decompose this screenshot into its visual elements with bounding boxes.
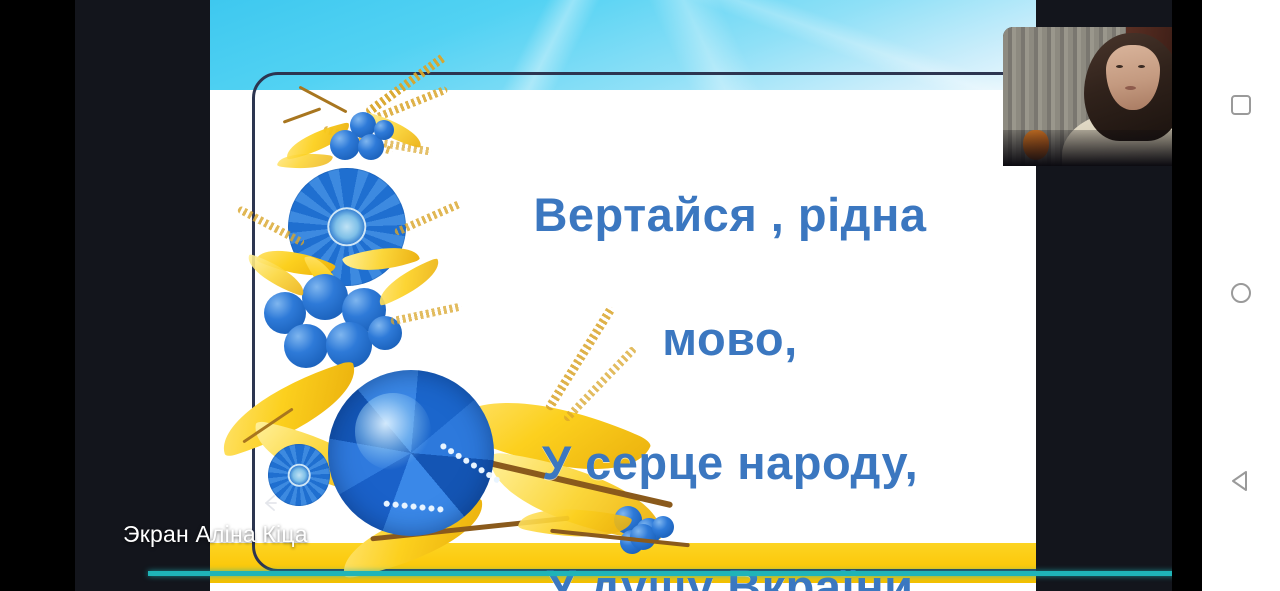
square-icon (1228, 92, 1254, 123)
shared-screen-canvas[interactable]: Вертайся , рідна мово, У серце народу, У… (75, 0, 1172, 591)
recents-button[interactable] (1202, 34, 1280, 182)
verse-line-3: У серце народу, (440, 432, 1020, 494)
triangle-left-icon (1228, 468, 1254, 499)
system-navigation-bar[interactable] (1202, 0, 1280, 591)
self-view-video[interactable] (1003, 27, 1172, 166)
home-button[interactable] (1202, 222, 1280, 370)
back-arrow-icon[interactable] (260, 492, 282, 514)
screen-share-viewer: Вертайся , рідна мово, У серце народу, У… (0, 0, 1280, 591)
circle-icon (1228, 280, 1254, 311)
verse-line-2: мово, (440, 308, 1020, 370)
back-button[interactable] (1202, 410, 1280, 558)
letterbox-left (0, 0, 75, 591)
screen-share-label: Экран Аліна Кіца (123, 521, 308, 548)
slide-verse-text: Вертайся , рідна мово, У серце народу, У… (440, 122, 1020, 591)
verse-line-1: Вертайся , рідна (440, 184, 1020, 246)
video-foreground-shadow (1003, 130, 1172, 166)
letterbox-right (1172, 0, 1202, 591)
progress-bar[interactable] (148, 571, 1172, 576)
video-frame (1003, 27, 1172, 166)
presentation-slide[interactable]: Вертайся , рідна мово, У серце народу, У… (210, 0, 1036, 591)
